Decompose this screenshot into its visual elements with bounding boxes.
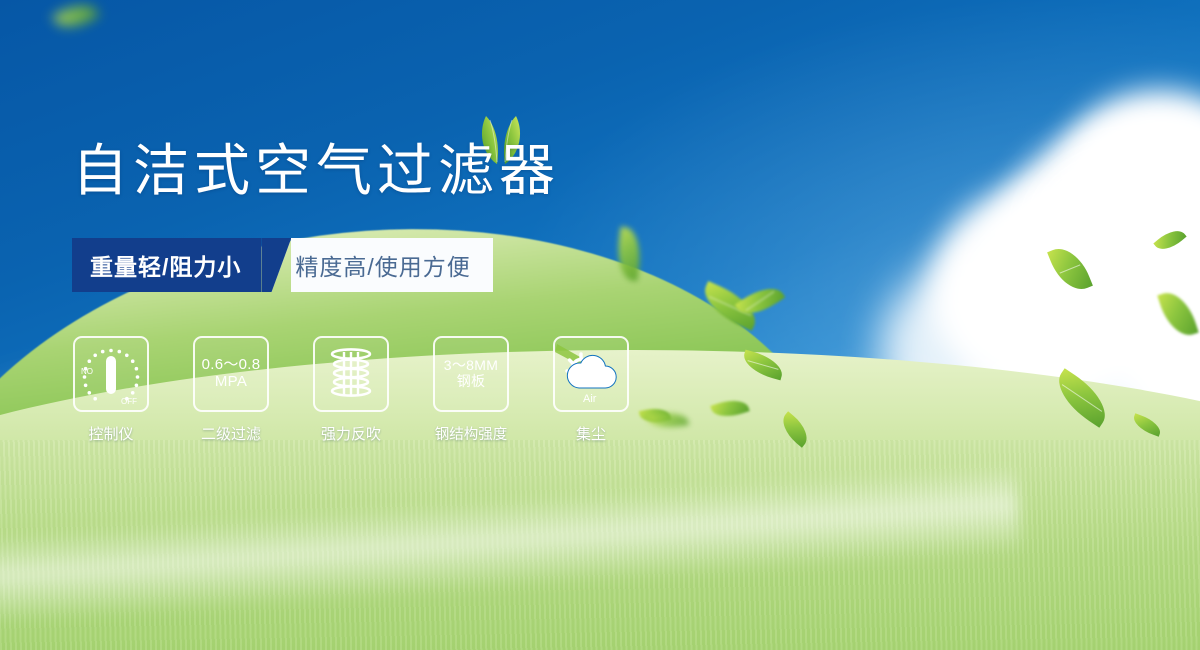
subtitle-separator	[261, 238, 291, 292]
feature-label: 二级过滤	[201, 423, 261, 444]
feature-label: 强力反吹	[321, 423, 381, 444]
pressure-value-icon: 0.6～0.8 MPA	[193, 336, 269, 412]
subtitle-right-text: 精度高/使用方便	[291, 238, 492, 292]
steel-thickness: 3～8MM	[444, 358, 498, 374]
page-title: 自洁式空气过滤器	[72, 143, 560, 199]
gauge-controller-icon: NO OFF	[73, 336, 149, 412]
feature-item-dust[interactable]: Air 集尘	[552, 336, 630, 444]
filter-coil-icon	[313, 336, 389, 412]
leaf-icon	[52, 0, 99, 36]
cloud-air-icon: Air	[553, 336, 629, 412]
gauge-label-no: NO	[81, 367, 93, 376]
feature-label: 控制仪	[88, 423, 133, 444]
feature-list: NO OFF 控制仪 0.6～0.8 MPA 二级过滤	[72, 336, 630, 444]
pressure-range: 0.6～0.8	[202, 357, 261, 374]
feature-label: 钢结构强度	[435, 423, 508, 444]
gauge-label-off: OFF	[121, 397, 137, 406]
feature-item-controller[interactable]: NO OFF 控制仪	[72, 336, 150, 444]
pressure-unit: MPA	[202, 374, 261, 391]
feature-item-pressure[interactable]: 0.6～0.8 MPA 二级过滤	[192, 336, 270, 444]
steel-material: 钢板	[444, 374, 498, 390]
subtitle-bar: 重量轻/阻力小 精度高/使用方便	[72, 238, 493, 292]
feature-label: 集尘	[576, 423, 606, 444]
feature-item-backblow[interactable]: 强力反吹	[312, 336, 390, 444]
feature-item-steel[interactable]: 3～8MM 钢板 钢结构强度	[432, 336, 510, 444]
air-icon-text: Air	[583, 393, 597, 405]
pressure-icon-text: 0.6～0.8 MPA	[202, 357, 261, 391]
product-banner: 自洁式空气过滤器 重量轻/阻力小 精度高/使用方便	[0, 0, 1200, 650]
steel-icon-text: 3～8MM 钢板	[444, 358, 498, 389]
steel-plate-icon: 3～8MM 钢板	[433, 336, 509, 412]
subtitle-left-text: 重量轻/阻力小	[72, 238, 261, 292]
